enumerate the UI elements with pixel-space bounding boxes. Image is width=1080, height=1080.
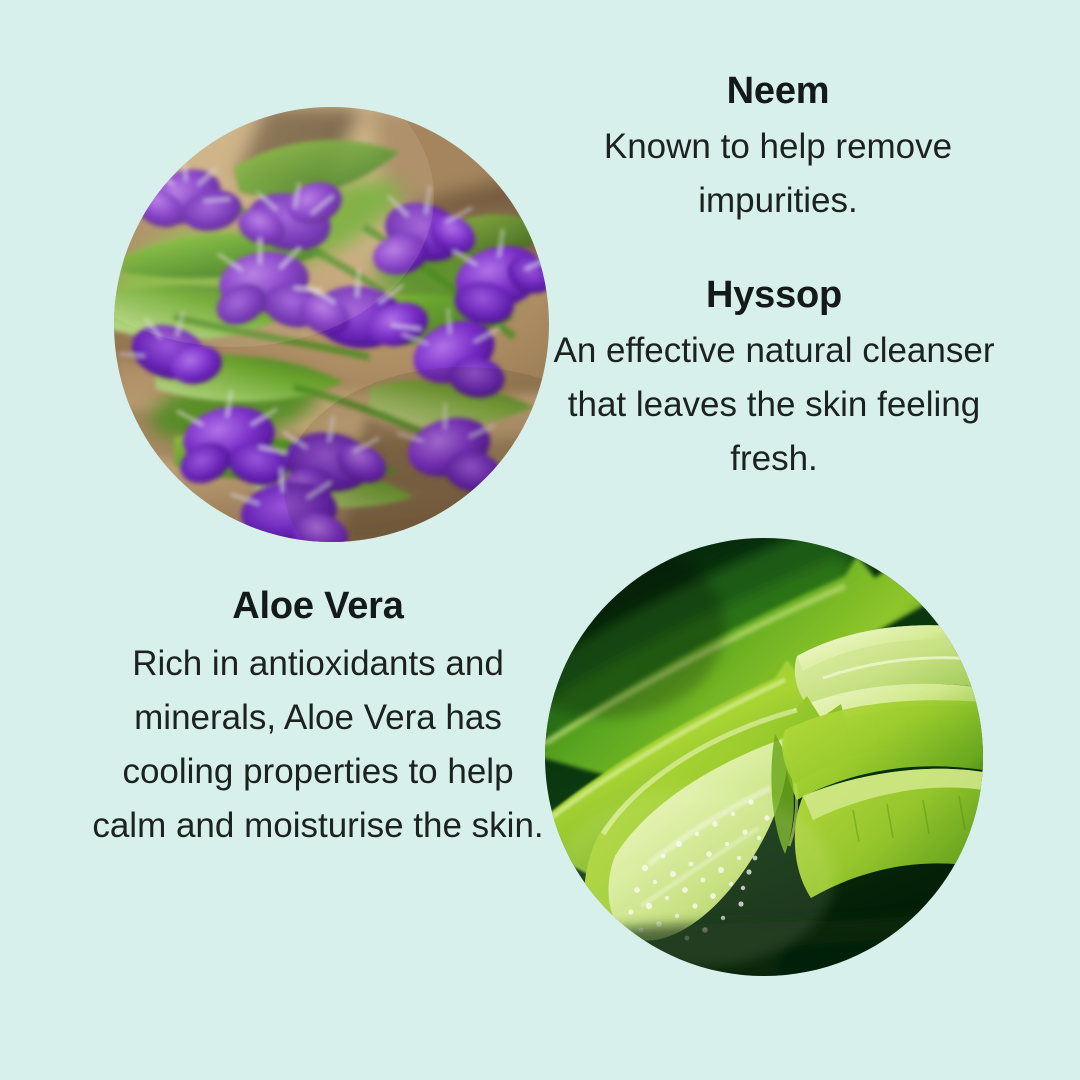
ingredient-neem: Neem Known to help remove impurities. bbox=[556, 68, 1000, 228]
infographic-canvas: Neem Known to help remove impurities. Hy… bbox=[0, 0, 1080, 1080]
ingredient-hyssop: Hyssop An effective natural cleanser tha… bbox=[548, 272, 1000, 486]
ingredient-aloe-vera-heading: Aloe Vera bbox=[92, 583, 544, 629]
ingredient-neem-heading: Neem bbox=[556, 68, 1000, 114]
hyssop-photo bbox=[114, 107, 549, 542]
ingredient-aloe-vera-description: Rich in antioxidants and minerals, Aloe … bbox=[92, 637, 544, 853]
ingredient-aloe-vera: Aloe Vera Rich in antioxidants and miner… bbox=[92, 583, 544, 853]
ingredient-neem-description: Known to help remove impurities. bbox=[556, 120, 1000, 228]
aloe-vera-photo bbox=[545, 538, 983, 976]
ingredient-hyssop-description: An effective natural cleanser that leave… bbox=[548, 324, 1000, 486]
ingredient-hyssop-heading: Hyssop bbox=[548, 272, 1000, 318]
